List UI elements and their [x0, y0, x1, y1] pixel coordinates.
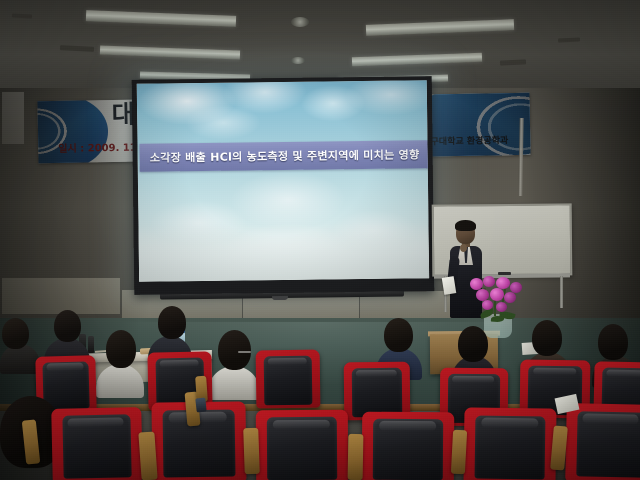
seat-highlight	[379, 421, 436, 431]
orchid-bloom	[482, 300, 493, 310]
seat-highlight	[267, 357, 307, 365]
person-head	[54, 310, 81, 342]
orchid-bloom	[483, 276, 495, 287]
ceiling-light-fixture	[352, 53, 482, 67]
person-head	[532, 320, 562, 356]
auditorium-seat[interactable]	[565, 403, 640, 480]
ceiling-speaker-icon	[291, 57, 305, 64]
banner-organizer-text: 대구대학교 환경공학과	[422, 137, 508, 147]
person-shoulders	[208, 366, 260, 400]
seat-armrest	[138, 432, 157, 480]
seat-armrest	[348, 434, 364, 480]
seat-highlight	[68, 417, 124, 428]
auditorium-seat[interactable]	[362, 412, 455, 480]
auditorium-seat[interactable]	[256, 350, 321, 409]
seat-highlight	[356, 369, 397, 377]
eyeglasses	[238, 351, 251, 353]
slide-title-bar: 소각장 배출 HCl의 농도측정 및 주변지역에 미치는 영향	[139, 140, 429, 172]
audience-member	[44, 310, 90, 362]
screen-pull-knob[interactable]	[272, 296, 288, 300]
seat-highlight	[159, 359, 199, 367]
seat-highlight	[533, 367, 576, 375]
seat-armrest	[451, 430, 467, 475]
person-head	[218, 330, 251, 370]
mobile-device[interactable]	[195, 398, 206, 413]
orchid-bloom	[496, 302, 507, 312]
orchid-bloom	[490, 288, 504, 301]
auditorium-seat[interactable]	[256, 410, 349, 480]
auditorium-seat[interactable]	[51, 407, 143, 480]
auditorium-photo: 대구대 대구 일시 : 2009. 11. 20(금) 대구대학교 환경공학과 …	[0, 0, 640, 480]
seat-armrest	[243, 428, 260, 474]
slide-bottom-fade	[138, 222, 429, 282]
ceiling-vent	[60, 45, 94, 52]
ceiling-light-fixture	[86, 10, 236, 27]
seat-highlight	[583, 414, 639, 425]
person-head	[106, 330, 136, 368]
presenter-hair	[455, 220, 476, 231]
seat-highlight	[606, 369, 640, 377]
ceiling-speaker-icon	[291, 17, 309, 27]
seat-highlight	[46, 363, 83, 371]
seat-highlight	[481, 417, 538, 428]
presenter-hand	[460, 244, 467, 252]
seat-highlight	[452, 375, 494, 383]
ceiling-light-fixture	[366, 19, 514, 36]
presenter-papers	[442, 276, 457, 295]
orchid-bloom	[504, 292, 516, 303]
person-head	[458, 326, 488, 362]
ceiling-vent	[500, 59, 526, 65]
ceiling-vent	[12, 13, 32, 18]
person-head	[598, 324, 628, 360]
projection-screen-surface: 소각장 배출 HCl의 농도측정 및 주변지역에 미치는 영향	[137, 80, 429, 282]
person-head	[2, 318, 29, 349]
person-head	[158, 306, 186, 339]
wall-shadow-left	[0, 88, 150, 326]
projection-screen: 소각장 배출 HCl의 농도측정 및 주변지역에 미치는 영향	[132, 76, 435, 295]
audience-member	[208, 330, 260, 392]
audience-member	[0, 318, 40, 370]
auditorium-seat[interactable]	[463, 407, 556, 480]
whiteboard-leg	[560, 276, 563, 308]
ceiling-vent	[558, 37, 580, 42]
person-shoulders	[96, 364, 144, 398]
seat-highlight	[272, 419, 329, 429]
slide-title-text: 소각장 배출 HCl의 농도측정 및 주변지역에 미치는 영향	[150, 146, 420, 165]
audience-member	[96, 330, 144, 390]
person-head	[384, 318, 413, 352]
ceiling-light-fixture	[100, 46, 240, 60]
whiteboard-marker[interactable]	[498, 272, 511, 275]
